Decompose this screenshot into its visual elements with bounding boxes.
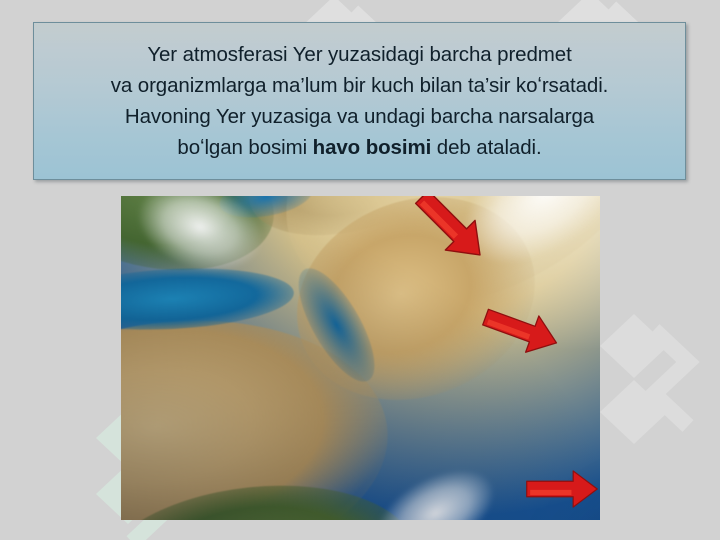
definition-line-4: boʻlgan bosimi havo bosimi deb ataladi. [40,132,679,163]
definition-line-4-head: boʻlgan bosimi [177,136,312,159]
definition-emphasis-term: havo bosimi [313,136,432,159]
pressure-arrow-bottom [525,468,599,509]
earth-image: Earth seen from space over Europe and Af… [121,196,600,520]
definition-text-box: Yer atmosferasi Yer yuzasidagi barcha pr… [33,22,686,180]
watermark-chevron-icon [600,300,720,460]
definition-line-1: Yer atmosferasi Yer yuzasidagi barcha pr… [40,39,679,70]
definition-line-2: va organizmlarga ma’lum bir kuch bilan t… [40,70,679,101]
definition-paragraph: Yer atmosferasi Yer yuzasidagi barcha pr… [34,39,685,163]
earth-scene [121,196,600,520]
slide-root: Yer atmosferasi Yer yuzasidagi barcha pr… [0,0,720,540]
definition-line-4-tail: deb ataladi. [431,136,541,159]
definition-line-3: Havoning Yer yuzasiga va undagi barcha n… [40,101,679,132]
